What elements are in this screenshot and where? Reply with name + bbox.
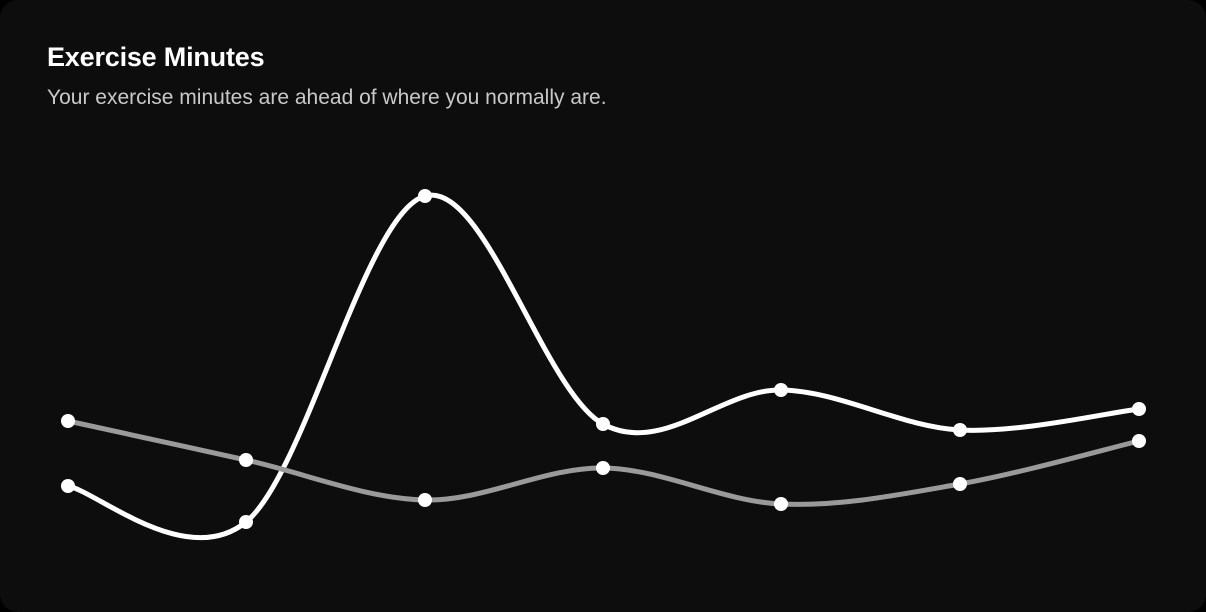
data-point-marker[interactable] bbox=[61, 414, 75, 428]
data-point-marker[interactable] bbox=[1132, 402, 1146, 416]
data-point-marker[interactable] bbox=[953, 423, 967, 437]
data-point-marker[interactable] bbox=[596, 417, 610, 431]
data-point-marker[interactable] bbox=[774, 497, 788, 511]
series-layer bbox=[68, 195, 1139, 538]
data-point-marker[interactable] bbox=[239, 515, 253, 529]
exercise-minutes-card: Exercise Minutes Your exercise minutes a… bbox=[0, 0, 1206, 612]
data-point-marker[interactable] bbox=[239, 453, 253, 467]
chart-plot-area bbox=[0, 0, 1206, 612]
data-point-marker[interactable] bbox=[61, 479, 75, 493]
line-chart-svg bbox=[0, 0, 1206, 612]
series-line-current bbox=[68, 195, 1139, 538]
data-point-marker[interactable] bbox=[1132, 434, 1146, 448]
data-point-marker[interactable] bbox=[774, 383, 788, 397]
data-point-marker[interactable] bbox=[418, 493, 432, 507]
data-point-marker[interactable] bbox=[953, 477, 967, 491]
data-point-marker[interactable] bbox=[418, 189, 432, 203]
data-point-marker[interactable] bbox=[596, 461, 610, 475]
